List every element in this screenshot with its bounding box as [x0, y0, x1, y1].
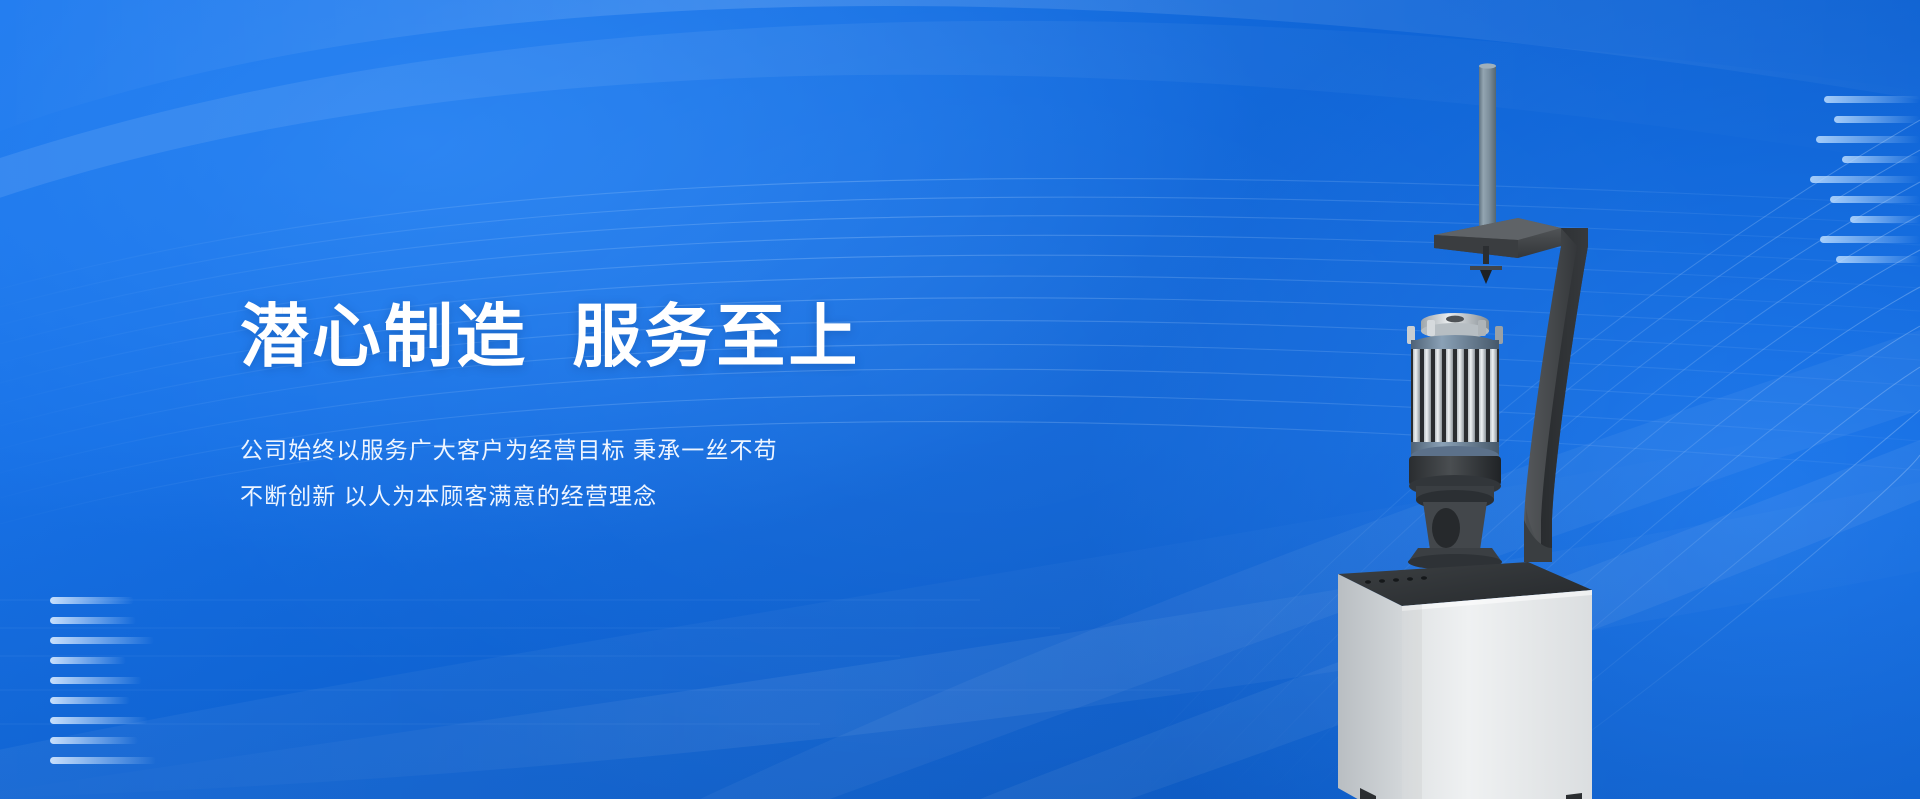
decor-bar [50, 757, 156, 764]
decor-bar [1830, 196, 1920, 203]
cabinet-base-part [1338, 562, 1592, 799]
hero-headline: 潜心制造 服务至上 [240, 298, 1060, 375]
product-machine-image [1330, 50, 1670, 799]
curved-column-part [1524, 228, 1588, 562]
decor-bar [50, 677, 142, 684]
hero-copy: 潜心制造 服务至上 公司始终以服务广大客户为经营目标 秉承一丝不苟 不断创新 以… [240, 298, 1060, 519]
decor-bar [1816, 136, 1920, 143]
decor-bar [1820, 236, 1920, 243]
right-gradient-bars [1798, 96, 1920, 276]
decor-bar [50, 737, 138, 744]
decor-bar [1824, 96, 1920, 103]
decor-bar [1850, 216, 1920, 223]
decor-bar [1836, 256, 1920, 263]
decor-bar [50, 717, 148, 724]
decor-bar [50, 637, 154, 644]
bottom-left-gradient-bars [50, 597, 170, 777]
cantilever-arm-part [1434, 218, 1561, 258]
motor-housing-part [1408, 456, 1502, 570]
hero-subtitle: 公司始终以服务广大客户为经营目标 秉承一丝不苟 不断创新 以人为本顾客满意的经营… [240, 427, 1060, 519]
decor-bar [1834, 116, 1920, 123]
hero-banner: 潜心制造 服务至上 公司始终以服务广大客户为经营目标 秉承一丝不苟 不断创新 以… [0, 0, 1920, 799]
decor-bar [50, 597, 134, 604]
decor-bar [1810, 176, 1920, 183]
decor-bar [50, 657, 126, 664]
decor-bar [1842, 156, 1920, 163]
decor-bar [50, 617, 136, 624]
vertical-shaft-part [1479, 63, 1496, 230]
decor-bar [50, 697, 130, 704]
ribbed-cylinder-part [1407, 313, 1503, 466]
hero-subtitle-line-1: 公司始终以服务广大客户为经营目标 秉承一丝不苟 [240, 427, 1060, 473]
hero-subtitle-line-2: 不断创新 以人为本顾客满意的经营理念 [240, 473, 1060, 519]
